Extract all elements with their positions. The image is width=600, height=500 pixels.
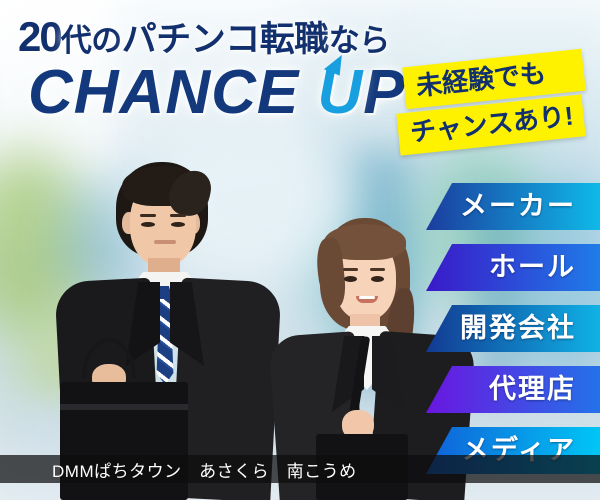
- category-label: ホール: [489, 254, 576, 281]
- up-letter-u: U: [317, 58, 363, 127]
- person-male: [30, 160, 290, 500]
- chance-word: CHANCE: [28, 58, 317, 127]
- category-label: 代理店: [489, 376, 576, 403]
- headline-block: 20代のパチンコ転職なら CHANCE UP: [18, 16, 406, 124]
- headline-line-2: CHANCE UP: [28, 62, 406, 124]
- headline-line-1: 20代のパチンコ転職なら: [18, 16, 406, 58]
- headline-line1-mid: 代の: [61, 23, 122, 58]
- category-label: メーカー: [460, 193, 576, 220]
- headline-line1-rest: パチンコ転職: [122, 20, 329, 59]
- credit-text: DMMぱちタウン あさくら 南こうめ: [0, 457, 357, 482]
- category-button-agency[interactable]: 代理店: [426, 366, 600, 413]
- headline-number: 20: [18, 13, 61, 60]
- category-button-hall[interactable]: ホール: [426, 244, 600, 291]
- category-button-maker[interactable]: メーカー: [426, 183, 600, 230]
- category-list: メーカー ホール 開発会社 代理店 メディア: [426, 183, 600, 488]
- no-experience-badge: 未経験でも チャンスあり!: [404, 58, 584, 146]
- credit-strip: DMMぱちタウン あさくら 南こうめ: [0, 455, 600, 483]
- job-ad-banner: 20代のパチンコ転職なら CHANCE UP 未経験でも チャンスあり! メーカ…: [0, 0, 600, 500]
- category-label: 開発会社: [460, 315, 576, 342]
- category-button-developer[interactable]: 開発会社: [426, 305, 600, 352]
